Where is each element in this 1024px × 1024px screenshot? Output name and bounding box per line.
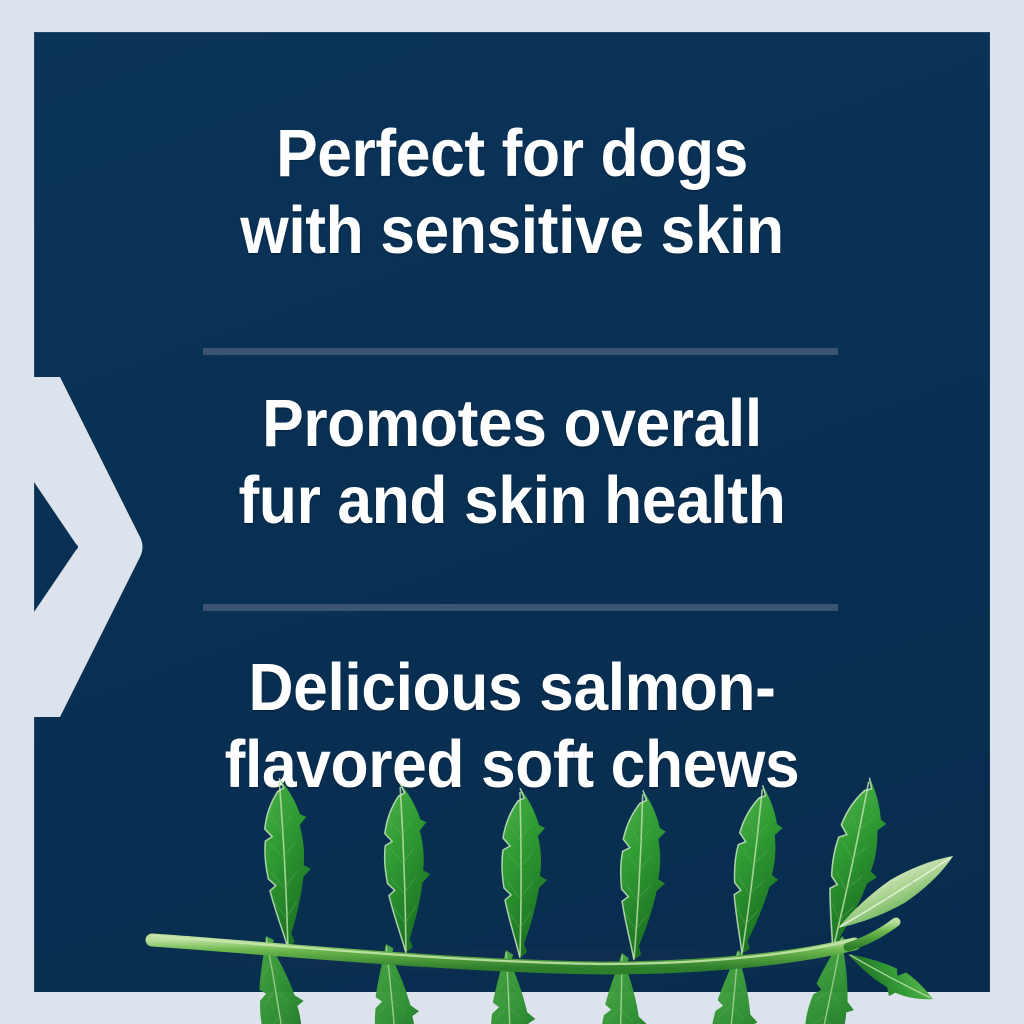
benefit-line: with sensitive skin — [67, 197, 956, 264]
benefit-line: Promotes overall — [67, 390, 956, 457]
benefit-item-fur-skin-health: Promotes overall fur and skin health — [34, 390, 990, 534]
benefit-item-sensitive-skin: Perfect for dogs with sensitive skin — [34, 120, 990, 264]
benefit-item-salmon-soft-chews: Delicious salmon- flavored soft chews — [34, 654, 990, 798]
benefits-card: Perfect for dogs with sensitive skin Pro… — [34, 32, 990, 992]
benefit-line: flavored soft chews — [67, 731, 956, 798]
product-benefits-graphic: Perfect for dogs with sensitive skin Pro… — [0, 0, 1024, 1024]
benefit-divider — [203, 348, 838, 355]
benefit-line: fur and skin health — [67, 467, 956, 534]
benefit-line: Delicious salmon- — [67, 654, 956, 721]
benefit-line: Perfect for dogs — [67, 120, 956, 187]
benefit-divider — [203, 604, 838, 611]
